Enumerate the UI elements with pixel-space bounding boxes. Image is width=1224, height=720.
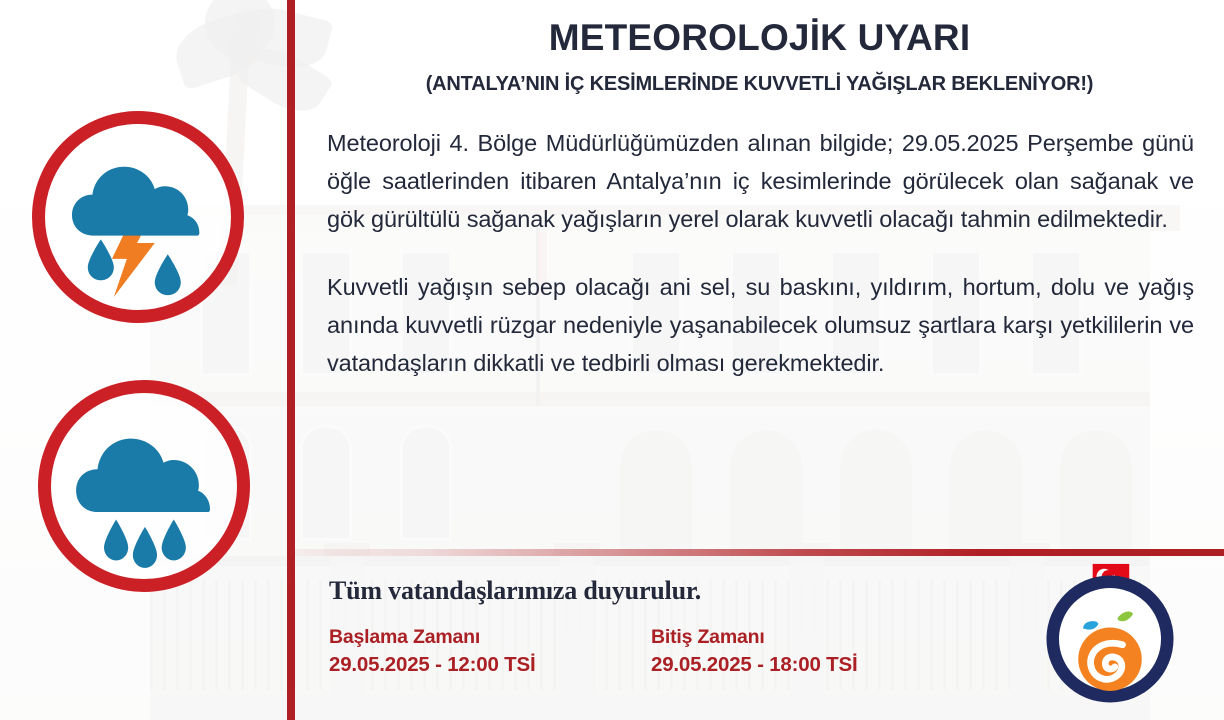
end-time-value: 29.05.2025 - 18:00 TSİ — [651, 653, 973, 677]
antalya-governorship-seal: T.C. ANTALYA VALİLİĞİ — [1033, 562, 1187, 716]
weather-icon-column — [0, 0, 287, 720]
warning-paragraph-1: Meteoroloji 4. Bölge Müdürlüğümüzden alı… — [327, 124, 1194, 238]
start-time-label: Başlama Zamanı — [329, 626, 651, 649]
meteorological-warning-poster: METEOROLOJİK UYARI (ANTALYA’NIN İÇ KESİM… — [0, 0, 1224, 720]
end-time-column: Bitiş Zamanı 29.05.2025 - 18:00 TSİ — [651, 626, 973, 677]
warning-body: Meteoroloji 4. Bölge Müdürlüğümüzden alı… — [295, 96, 1224, 382]
vertical-red-divider — [287, 0, 295, 720]
end-time-label: Bitiş Zamanı — [651, 626, 973, 649]
start-time-value: 29.05.2025 - 12:00 TSİ — [329, 653, 651, 677]
page-title: METEOROLOJİK UYARI — [295, 0, 1224, 58]
start-time-column: Başlama Zamanı 29.05.2025 - 12:00 TSİ — [329, 626, 651, 677]
page-subtitle: (ANTALYA’NIN İÇ KESİMLERİNDE KUVVETLİ YA… — [295, 58, 1224, 96]
thunderstorm-icon — [32, 111, 244, 323]
rain-cloud-icon — [38, 380, 250, 592]
warning-paragraph-2: Kuvvetli yağışın sebep olacağı ani sel, … — [327, 268, 1194, 382]
